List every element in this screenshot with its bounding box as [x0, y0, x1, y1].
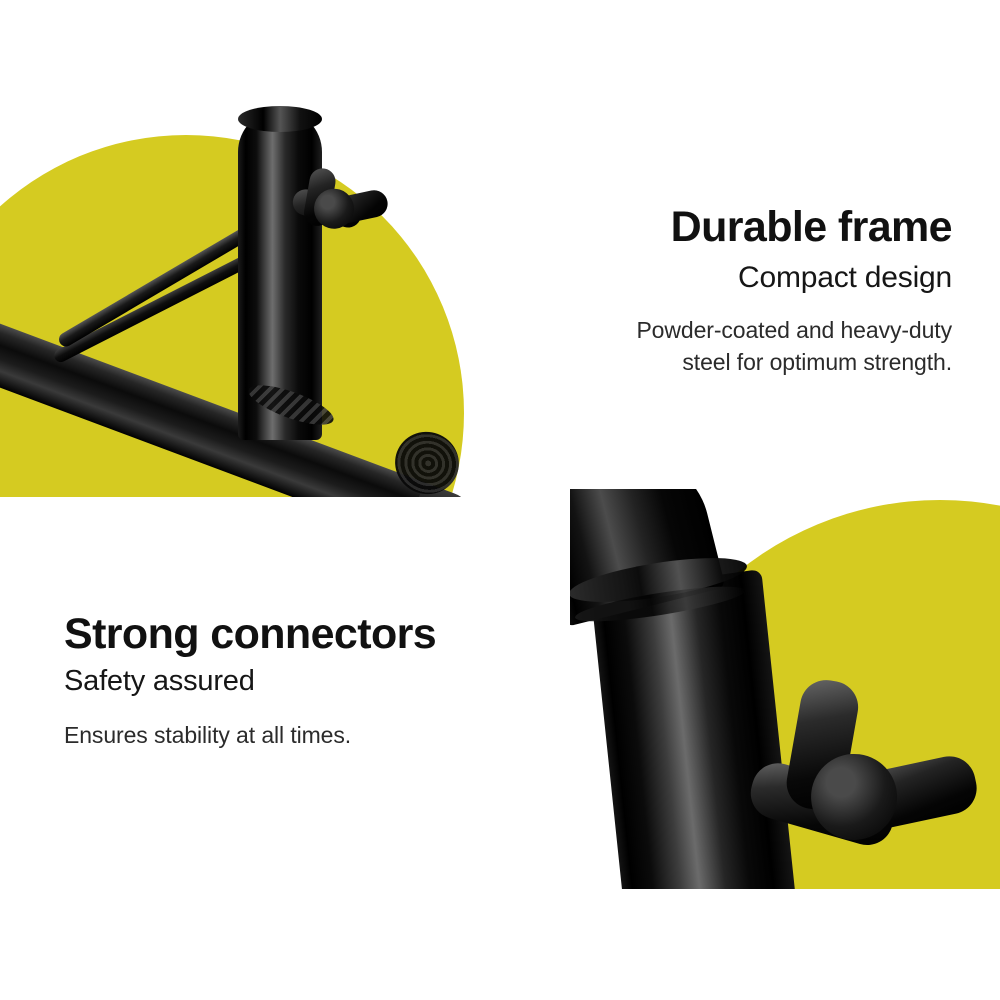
three-lobe-locking-knob-icon [741, 669, 993, 889]
product-feature-collage: Durable frame Compact design Powder-coat… [0, 0, 1000, 1000]
feature-text-strong-connectors: Strong connectors Safety assured Ensures… [64, 612, 494, 752]
feature-title: Strong connectors [64, 612, 494, 658]
feature-body-line: Powder-coated and heavy-duty [520, 314, 952, 347]
three-lobe-knob-icon [283, 155, 398, 262]
feature-body: Powder-coated and heavy-duty steel for o… [520, 314, 952, 379]
pole-top-cap [238, 106, 322, 132]
feature-body-line: steel for optimum strength. [520, 346, 952, 379]
top-left-image-panel [0, 0, 464, 497]
feature-title: Durable frame [520, 205, 952, 251]
feature-subtitle: Compact design [520, 255, 952, 300]
bottom-right-image-panel [570, 489, 1000, 889]
feature-text-durable-frame: Durable frame Compact design Powder-coat… [520, 205, 952, 379]
feature-body: Ensures stability at all times. [64, 719, 494, 752]
feature-body-line: Ensures stability at all times. [64, 719, 494, 752]
feature-subtitle: Safety assured [64, 660, 494, 704]
